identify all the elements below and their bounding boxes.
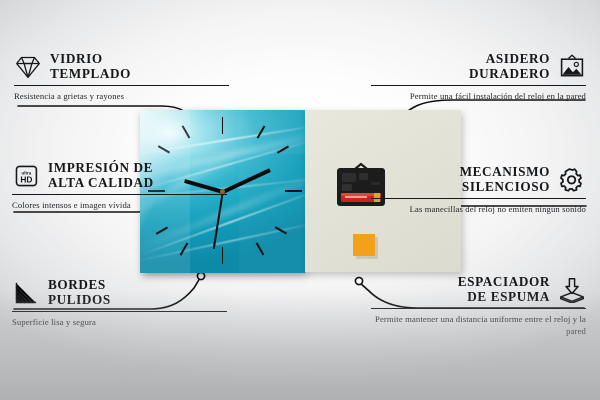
feature-espaciador-de-espuma: ESPACIADOR DE ESPUMA Permite mantener un…: [371, 275, 586, 338]
feature-description: Permite mantener una distancia uniforme …: [371, 313, 586, 338]
feature-title-line2: TEMPLADO: [50, 67, 131, 82]
ultra-hd-icon-bottom-text: HD: [20, 174, 32, 184]
polished-edges-icon: [12, 280, 40, 306]
feature-title-line2: DE ESPUMA: [467, 290, 550, 305]
feature-title-line1: IMPRESIÓN DE: [48, 161, 153, 176]
feature-impresion-alta-calidad: ultra HD IMPRESIÓN DE ALTA CALIDAD Color…: [12, 161, 227, 211]
clock-tick: [222, 247, 224, 264]
feature-titles: ESPACIADOR DE ESPUMA: [458, 275, 550, 305]
feature-title-line1: MECANISMO: [460, 165, 550, 180]
connector-endpoint-espaciador: [355, 277, 362, 284]
feature-header: BORDES PULIDOS: [12, 278, 227, 308]
feature-titles: ASIDERO DURADERO: [469, 52, 550, 82]
feature-divider: [371, 85, 586, 86]
feature-titles: MECANISMO SILENCIOSO: [460, 165, 550, 195]
feature-divider: [12, 194, 227, 195]
feature-header: MECANISMO SILENCIOSO: [371, 165, 586, 195]
feature-header: ESPACIADOR DE ESPUMA: [371, 275, 586, 305]
picture-hanger-icon: [558, 54, 586, 80]
feature-description: Superficie lisa y segura: [12, 316, 227, 328]
feature-title-line2: SILENCIOSO: [462, 180, 550, 195]
feature-description: Las manecillas del reloj no emiten ningú…: [371, 203, 586, 215]
feature-header: VIDRIO TEMPLADO: [14, 52, 229, 82]
feature-divider: [371, 308, 586, 309]
feature-description: Colores intensos e imagen vívida: [12, 199, 227, 211]
feature-title-line1: VIDRIO: [50, 52, 103, 67]
feature-header: ASIDERO DURADERO: [371, 52, 586, 82]
feature-divider: [14, 85, 229, 86]
clock-tick: [222, 117, 224, 134]
feature-asidero-duradero: ASIDERO DURADERO Permite una fácil insta…: [371, 52, 586, 102]
diamond-icon: [14, 54, 42, 80]
feature-header: ultra HD IMPRESIÓN DE ALTA CALIDAD: [12, 161, 227, 191]
gear-icon: [558, 167, 586, 193]
feature-title-line1: BORDES: [48, 278, 106, 293]
feature-title-line1: ESPACIADOR: [458, 275, 550, 290]
feature-divider: [12, 311, 227, 312]
feature-title-line2: PULIDOS: [48, 293, 111, 308]
feature-vidrio-templado: VIDRIO TEMPLADO Resistencia a grietas y …: [14, 52, 229, 102]
foam-spacer-swatch: [353, 234, 375, 256]
feature-description: Permite una fácil instalación del reloj …: [371, 90, 586, 102]
infographic-canvas: VIDRIO TEMPLADO Resistencia a grietas y …: [0, 0, 600, 400]
clock-tick: [285, 190, 302, 192]
feature-titles: VIDRIO TEMPLADO: [50, 52, 131, 82]
feature-titles: BORDES PULIDOS: [48, 278, 111, 308]
feature-divider: [371, 198, 586, 199]
ultra-hd-icon: ultra HD: [12, 163, 40, 189]
feature-description: Resistencia a grietas y rayones: [14, 90, 229, 102]
feature-bordes-pulidos: BORDES PULIDOS Superficie lisa y segura: [12, 278, 227, 328]
feature-title-line2: DURADERO: [469, 67, 550, 82]
foam-spacer-icon: [558, 277, 586, 303]
feature-mecanismo-silencioso: MECANISMO SILENCIOSO Las manecillas del …: [371, 165, 586, 215]
feature-title-line1: ASIDERO: [486, 52, 550, 67]
feature-title-line2: ALTA CALIDAD: [48, 176, 154, 191]
feature-titles: IMPRESIÓN DE ALTA CALIDAD: [48, 161, 154, 191]
